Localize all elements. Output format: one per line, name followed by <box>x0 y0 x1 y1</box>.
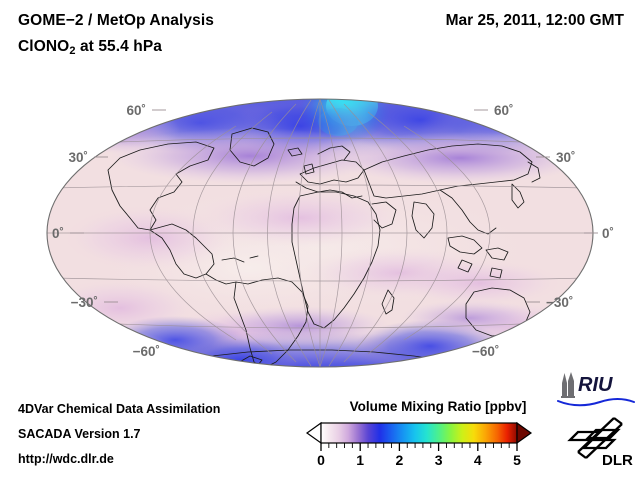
footer-method-label: 4DVar Chemical Data Assimilation <box>18 402 220 416</box>
riu-wave-icon <box>558 399 634 405</box>
species-name: ClONO <box>18 38 69 55</box>
colorbar: 012345 <box>305 421 545 467</box>
footer-url-link[interactable]: http://wdc.dlr.de <box>18 452 114 466</box>
lat-label-30s-left: −30˚ <box>71 295 98 310</box>
species-subscript: 2 <box>69 45 75 57</box>
dlr-logo: DLR <box>566 412 638 468</box>
page-title-analysis: GOME−2 / MetOp Analysis <box>18 12 214 30</box>
colorbar-gradient <box>321 423 517 443</box>
colorbar-title: Volume Mixing Ratio [ppbv] <box>333 399 543 414</box>
colorbar-tick-labels: 012345 <box>317 452 521 467</box>
colorbar-tick-label-1: 1 <box>356 452 364 467</box>
riu-wordmark: RIU <box>578 374 613 396</box>
colorbar-tick-label-3: 3 <box>435 452 443 467</box>
lat-label-60s-left: −60˚ <box>133 344 160 359</box>
world-map-hammer-projection: 60˚ 30˚ 0˚ −30˚ −60˚ 60˚ 30˚ 0˚ −30˚ −60… <box>0 78 640 378</box>
colorbar-tick-label-2: 2 <box>396 452 404 467</box>
lat-label-30n-right: 30˚ <box>556 150 576 165</box>
lat-label-0-left: 0˚ <box>52 226 64 241</box>
lat-label-30s-right: −30˚ <box>546 295 573 310</box>
colorbar-tick-label-0: 0 <box>317 452 325 467</box>
timestamp-label: Mar 25, 2011, 12:00 GMT <box>446 12 624 30</box>
lat-label-60n-left: 60˚ <box>126 103 146 118</box>
footer-version-label: SACADA Version 1.7 <box>18 427 141 441</box>
colorbar-arrow-low <box>307 423 321 443</box>
riu-logo: RIU <box>556 371 636 409</box>
colorbar-tick-label-4: 4 <box>474 452 482 467</box>
lat-label-60s-right: −60˚ <box>472 344 499 359</box>
lat-label-60n-right: 60˚ <box>494 103 514 118</box>
colorbar-arrow-high <box>517 423 531 443</box>
lat-label-0-right: 0˚ <box>602 226 614 241</box>
colorbar-tick-label-5: 5 <box>513 452 521 467</box>
riu-tower-icon <box>562 372 574 397</box>
page-title-species: ClONO2 at 55.4 hPa <box>18 38 162 56</box>
lat-label-30n-left: 30˚ <box>68 150 88 165</box>
species-level: at 55.4 hPa <box>76 38 163 55</box>
dlr-wordmark: DLR <box>602 452 633 468</box>
colorbar-ticks <box>321 443 517 451</box>
